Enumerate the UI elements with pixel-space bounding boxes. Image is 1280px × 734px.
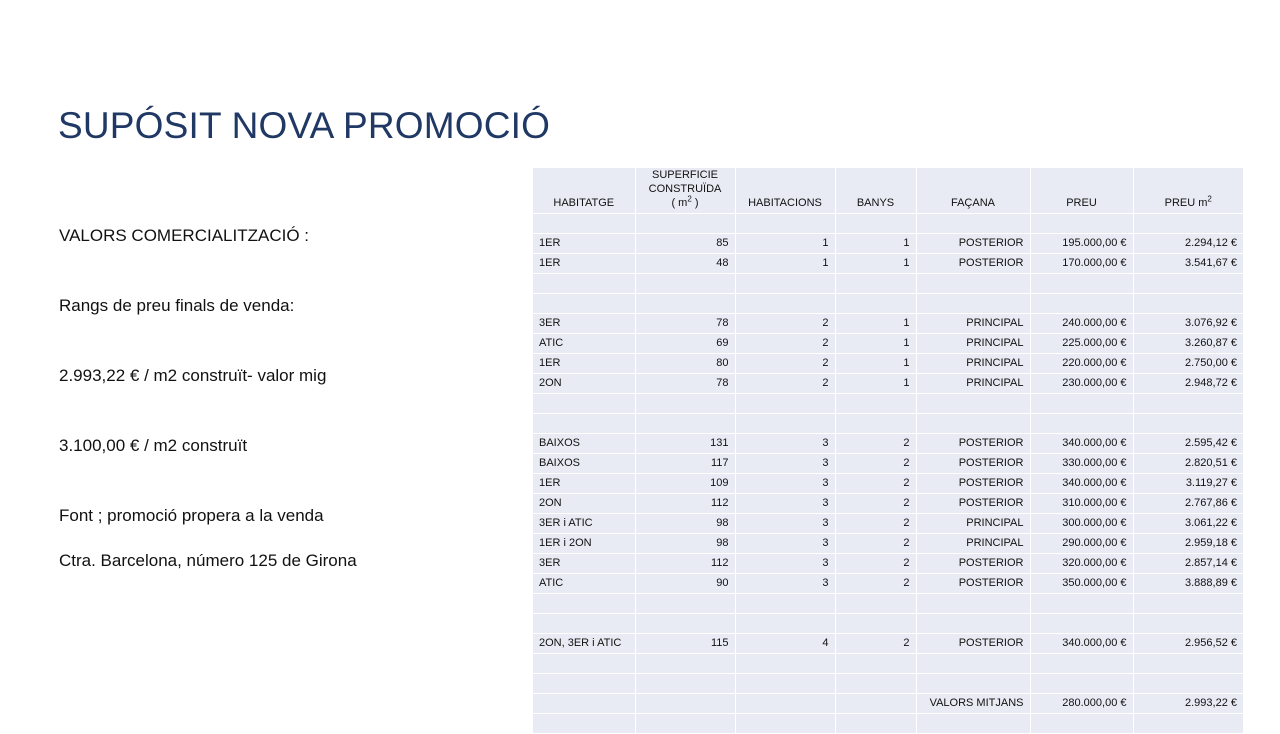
table-cell-preu: 350.000,00 € xyxy=(1030,574,1133,594)
price-table-container: HABITATGE SUPERFICIE CONSTRUÏDA ( m2 ) H… xyxy=(533,168,1243,734)
table-cell-preu: 280.000,00 € xyxy=(1030,694,1133,714)
table-spacer-cell xyxy=(635,654,735,674)
table-spacer-cell xyxy=(916,274,1030,294)
table-spacer-row xyxy=(533,714,1243,734)
table-cell-preum2: 3.888,89 € xyxy=(1133,574,1243,594)
price-table-head: HABITATGE SUPERFICIE CONSTRUÏDA ( m2 ) H… xyxy=(533,168,1243,214)
table-cell-preu: 225.000,00 € xyxy=(1030,334,1133,354)
table-cell-habitatge: 3ER xyxy=(533,554,635,574)
table-cell-habitatge: 1ER xyxy=(533,254,635,274)
table-cell-habitacions: 4 xyxy=(735,634,835,654)
table-cell-superficie: 98 xyxy=(635,514,735,534)
table-spacer-cell xyxy=(835,414,916,434)
body-text-block: VALORS COMERCIALITZACIÓ : Rangs de preu … xyxy=(59,225,509,571)
table-cell-preu: 290.000,00 € xyxy=(1030,534,1133,554)
table-cell-banys: 2 xyxy=(835,634,916,654)
table-cell-preum2: 2.956,52 € xyxy=(1133,634,1243,654)
table-cell-facana: POSTERIOR xyxy=(916,574,1030,594)
table-cell-preum2: 3.061,22 € xyxy=(1133,514,1243,534)
table-cell-banys: 1 xyxy=(835,354,916,374)
table-cell-habitatge: ATIC xyxy=(533,334,635,354)
table-spacer-cell xyxy=(916,594,1030,614)
table-cell-habitacions: 3 xyxy=(735,434,835,454)
table-cell-facana: POSTERIOR xyxy=(916,494,1030,514)
table-spacer-row xyxy=(533,674,1243,694)
table-cell-preum2: 2.820,51 € xyxy=(1133,454,1243,474)
table-cell-preu: 340.000,00 € xyxy=(1030,434,1133,454)
table-cell-habitatge: 2ON xyxy=(533,374,635,394)
table-spacer-cell xyxy=(916,414,1030,434)
table-row: BAIXOS13132POSTERIOR340.000,00 €2.595,42… xyxy=(533,434,1243,454)
table-spacer-cell xyxy=(1133,414,1243,434)
table-cell-habitacions: 3 xyxy=(735,494,835,514)
table-cell-superficie: 85 xyxy=(635,234,735,254)
body-line-adreca: Ctra. Barcelona, número 125 de Girona xyxy=(59,550,509,571)
table-cell-preum2: 3.260,87 € xyxy=(1133,334,1243,354)
col-header-habitatge: HABITATGE xyxy=(533,168,635,214)
table-spacer-cell xyxy=(635,594,735,614)
table-row: 2ON7821PRINCIPAL230.000,00 €2.948,72 € xyxy=(533,374,1243,394)
table-spacer-cell xyxy=(735,714,835,734)
table-cell-preu: 240.000,00 € xyxy=(1030,314,1133,334)
table-spacer-cell xyxy=(835,294,916,314)
table-cell-facana: POSTERIOR xyxy=(916,254,1030,274)
table-row: BAIXOS11732POSTERIOR330.000,00 €2.820,51… xyxy=(533,454,1243,474)
table-cell-preum2: 2.750,00 € xyxy=(1133,354,1243,374)
table-spacer-cell xyxy=(1030,214,1133,234)
table-cell-banys: 1 xyxy=(835,314,916,334)
table-spacer-cell xyxy=(1030,274,1133,294)
table-spacer-cell xyxy=(635,274,735,294)
table-cell-habitatge: 1ER i 2ON xyxy=(533,534,635,554)
table-cell-habitatge: 1ER xyxy=(533,354,635,374)
table-cell-superficie: 109 xyxy=(635,474,735,494)
table-spacer-cell xyxy=(533,654,635,674)
table-spacer-cell xyxy=(735,674,835,694)
table-spacer-cell xyxy=(1030,614,1133,634)
col-header-banys: BANYS xyxy=(835,168,916,214)
table-cell-preu: 170.000,00 € xyxy=(1030,254,1133,274)
table-spacer-cell xyxy=(835,654,916,674)
table-cell-superficie: 115 xyxy=(635,634,735,654)
table-spacer-cell xyxy=(735,414,835,434)
col-header-superficie-line1: SUPERFICIE xyxy=(642,168,729,182)
table-cell-superficie: 90 xyxy=(635,574,735,594)
table-spacer-cell xyxy=(735,654,835,674)
table-cell-superficie: 117 xyxy=(635,454,735,474)
table-cell-facana: PRINCIPAL xyxy=(916,334,1030,354)
table-spacer-cell xyxy=(835,274,916,294)
table-spacer-cell xyxy=(1030,294,1133,314)
table-row: 1ER8511POSTERIOR195.000,00 €2.294,12 € xyxy=(533,234,1243,254)
table-cell-habitatge: BAIXOS xyxy=(533,454,635,474)
table-spacer-cell xyxy=(735,294,835,314)
table-spacer-cell xyxy=(735,214,835,234)
table-spacer-cell xyxy=(533,674,635,694)
table-spacer-cell xyxy=(735,614,835,634)
table-spacer-row xyxy=(533,214,1243,234)
table-cell-superficie: 69 xyxy=(635,334,735,354)
price-table-body: 1ER8511POSTERIOR195.000,00 €2.294,12 €1E… xyxy=(533,214,1243,734)
table-cell-superficie: 80 xyxy=(635,354,735,374)
table-spacer-row xyxy=(533,414,1243,434)
col-header-preu: PREU xyxy=(1030,168,1133,214)
table-cell-habitacions: 3 xyxy=(735,574,835,594)
table-spacer-cell xyxy=(1030,394,1133,414)
table-cell-preu: 310.000,00 € xyxy=(1030,494,1133,514)
table-spacer-cell xyxy=(1133,214,1243,234)
table-cell-superficie: 131 xyxy=(635,434,735,454)
table-spacer-cell xyxy=(533,414,635,434)
table-spacer-cell xyxy=(916,294,1030,314)
col-header-superficie: SUPERFICIE CONSTRUÏDA ( m2 ) xyxy=(635,168,735,214)
table-row: 1ER10932POSTERIOR340.000,00 €3.119,27 € xyxy=(533,474,1243,494)
col-header-preu-m2-label: PREU m2 xyxy=(1140,196,1238,210)
table-spacer-cell xyxy=(1133,594,1243,614)
table-row: 2ON11232POSTERIOR310.000,00 €2.767,86 € xyxy=(533,494,1243,514)
table-cell-habitacions xyxy=(735,694,835,714)
table-spacer-cell xyxy=(533,274,635,294)
table-spacer-cell xyxy=(1133,394,1243,414)
table-cell-preu: 300.000,00 € xyxy=(1030,514,1133,534)
table-spacer-row xyxy=(533,614,1243,634)
table-cell-facana: POSTERIOR xyxy=(916,554,1030,574)
superscript-two: 2 xyxy=(1207,194,1211,203)
table-spacer-cell xyxy=(916,714,1030,734)
table-cell-superficie: 78 xyxy=(635,374,735,394)
table-row: VALORS MITJANS280.000,00 €2.993,22 € xyxy=(533,694,1243,714)
table-cell-habitatge: ATIC xyxy=(533,574,635,594)
table-spacer-cell xyxy=(635,674,735,694)
table-spacer-cell xyxy=(916,674,1030,694)
table-cell-preum2: 3.076,92 € xyxy=(1133,314,1243,334)
table-cell-preu: 320.000,00 € xyxy=(1030,554,1133,574)
table-spacer-row xyxy=(533,594,1243,614)
table-spacer-row xyxy=(533,274,1243,294)
table-cell-preu: 340.000,00 € xyxy=(1030,474,1133,494)
table-spacer-cell xyxy=(1133,614,1243,634)
table-cell-habitatge: 3ER i ATIC xyxy=(533,514,635,534)
table-spacer-cell xyxy=(533,214,635,234)
table-spacer-cell xyxy=(635,414,735,434)
table-cell-banys: 2 xyxy=(835,434,916,454)
table-spacer-cell xyxy=(1030,654,1133,674)
table-spacer-cell xyxy=(635,214,735,234)
table-cell-preu: 330.000,00 € xyxy=(1030,454,1133,474)
table-spacer-cell xyxy=(635,294,735,314)
table-cell-habitatge: 2ON xyxy=(533,494,635,514)
col-header-facana-label: FAÇANA xyxy=(923,196,1024,210)
table-cell-habitatge xyxy=(533,694,635,714)
price-table: HABITATGE SUPERFICIE CONSTRUÏDA ( m2 ) H… xyxy=(533,168,1243,734)
table-cell-banys: 2 xyxy=(835,474,916,494)
table-spacer-cell xyxy=(533,714,635,734)
table-cell-preum2: 3.119,27 € xyxy=(1133,474,1243,494)
table-spacer-cell xyxy=(533,594,635,614)
table-cell-habitacions: 3 xyxy=(735,454,835,474)
table-spacer-cell xyxy=(835,214,916,234)
page-title: SUPÓSIT NOVA PROMOCIÓ xyxy=(58,104,550,148)
table-cell-superficie: 112 xyxy=(635,554,735,574)
table-cell-superficie: 112 xyxy=(635,494,735,514)
table-cell-habitatge: 1ER xyxy=(533,474,635,494)
table-cell-banys: 2 xyxy=(835,454,916,474)
table-spacer-cell xyxy=(735,394,835,414)
table-spacer-cell xyxy=(835,594,916,614)
col-header-banys-label: BANYS xyxy=(842,196,910,210)
table-spacer-cell xyxy=(916,214,1030,234)
table-cell-superficie: 48 xyxy=(635,254,735,274)
table-cell-banys: 2 xyxy=(835,574,916,594)
table-spacer-cell xyxy=(533,294,635,314)
table-cell-facana: PRINCIPAL xyxy=(916,534,1030,554)
table-spacer-row xyxy=(533,294,1243,314)
table-spacer-cell xyxy=(916,614,1030,634)
table-cell-facana: POSTERIOR xyxy=(916,234,1030,254)
table-cell-superficie xyxy=(635,694,735,714)
table-cell-facana: PRINCIPAL xyxy=(916,514,1030,534)
table-cell-banys: 2 xyxy=(835,554,916,574)
table-spacer-cell xyxy=(735,594,835,614)
table-spacer-cell xyxy=(835,614,916,634)
table-spacer-cell xyxy=(1030,714,1133,734)
table-spacer-cell xyxy=(735,274,835,294)
table-cell-facana: POSTERIOR xyxy=(916,454,1030,474)
table-cell-facana: PRINCIPAL xyxy=(916,354,1030,374)
table-spacer-cell xyxy=(835,674,916,694)
table-cell-habitacions: 2 xyxy=(735,314,835,334)
table-cell-banys: 1 xyxy=(835,234,916,254)
table-row: ATIC6921PRINCIPAL225.000,00 €3.260,87 € xyxy=(533,334,1243,354)
col-header-habitatge-label: HABITATGE xyxy=(539,196,629,210)
table-cell-banys: 2 xyxy=(835,534,916,554)
table-spacer-row xyxy=(533,654,1243,674)
table-cell-preu: 340.000,00 € xyxy=(1030,634,1133,654)
table-cell-facana: POSTERIOR xyxy=(916,474,1030,494)
table-cell-habitatge: 1ER xyxy=(533,234,635,254)
col-header-superficie-line3: ( m2 ) xyxy=(642,196,729,210)
table-row: 3ER7821PRINCIPAL240.000,00 €3.076,92 € xyxy=(533,314,1243,334)
table-cell-preum2: 2.959,18 € xyxy=(1133,534,1243,554)
table-cell-preum2: 3.541,67 € xyxy=(1133,254,1243,274)
col-header-superficie-line2: CONSTRUÏDA xyxy=(642,182,729,196)
table-spacer-cell xyxy=(916,654,1030,674)
table-cell-facana: VALORS MITJANS xyxy=(916,694,1030,714)
table-cell-habitacions: 3 xyxy=(735,534,835,554)
table-spacer-cell xyxy=(1133,654,1243,674)
table-cell-superficie: 78 xyxy=(635,314,735,334)
table-spacer-cell xyxy=(635,614,735,634)
table-cell-habitacions: 2 xyxy=(735,374,835,394)
table-cell-habitacions: 1 xyxy=(735,254,835,274)
body-line-preu-m2: 3.100,00 € / m2 construït xyxy=(59,435,509,456)
table-cell-banys xyxy=(835,694,916,714)
body-line-valors-comercialitzacio: VALORS COMERCIALITZACIÓ : xyxy=(59,225,509,246)
table-cell-preu: 195.000,00 € xyxy=(1030,234,1133,254)
table-cell-preum2: 2.857,14 € xyxy=(1133,554,1243,574)
col-header-facana: FAÇANA xyxy=(916,168,1030,214)
table-cell-habitatge: 2ON, 3ER i ATIC xyxy=(533,634,635,654)
table-spacer-cell xyxy=(635,394,735,414)
table-spacer-cell xyxy=(635,714,735,734)
table-cell-preum2: 2.595,42 € xyxy=(1133,434,1243,454)
table-row: 1ER i 2ON9832PRINCIPAL290.000,00 €2.959,… xyxy=(533,534,1243,554)
table-row: 3ER11232POSTERIOR320.000,00 €2.857,14 € xyxy=(533,554,1243,574)
table-row: 2ON, 3ER i ATIC11542POSTERIOR340.000,00 … xyxy=(533,634,1243,654)
table-spacer-cell xyxy=(835,394,916,414)
table-spacer-cell xyxy=(835,714,916,734)
table-cell-preu: 230.000,00 € xyxy=(1030,374,1133,394)
col-header-habitacions: HABITACIONS xyxy=(735,168,835,214)
table-row: 1ER8021PRINCIPAL220.000,00 €2.750,00 € xyxy=(533,354,1243,374)
table-cell-preum2: 2.993,22 € xyxy=(1133,694,1243,714)
body-line-rangs-preu: Rangs de preu finals de venda: xyxy=(59,295,509,316)
table-spacer-cell xyxy=(533,614,635,634)
table-cell-facana: PRINCIPAL xyxy=(916,314,1030,334)
table-cell-banys: 2 xyxy=(835,514,916,534)
table-spacer-cell xyxy=(1133,294,1243,314)
table-row: 1ER4811POSTERIOR170.000,00 €3.541,67 € xyxy=(533,254,1243,274)
table-cell-preum2: 2.767,86 € xyxy=(1133,494,1243,514)
table-cell-banys: 2 xyxy=(835,494,916,514)
table-spacer-cell xyxy=(1133,674,1243,694)
table-spacer-cell xyxy=(916,394,1030,414)
price-table-header-row: HABITATGE SUPERFICIE CONSTRUÏDA ( m2 ) H… xyxy=(533,168,1243,214)
table-cell-habitacions: 3 xyxy=(735,514,835,534)
table-cell-preum2: 2.294,12 € xyxy=(1133,234,1243,254)
table-cell-habitatge: 3ER xyxy=(533,314,635,334)
table-row: 3ER i ATIC9832PRINCIPAL300.000,00 €3.061… xyxy=(533,514,1243,534)
col-header-preu-m2: PREU m2 xyxy=(1133,168,1243,214)
table-cell-facana: POSTERIOR xyxy=(916,434,1030,454)
superscript-two: 2 xyxy=(687,194,691,203)
table-spacer-cell xyxy=(1133,714,1243,734)
table-cell-banys: 1 xyxy=(835,334,916,354)
table-cell-facana: PRINCIPAL xyxy=(916,374,1030,394)
col-header-preu-label: PREU xyxy=(1037,196,1127,210)
table-spacer-cell xyxy=(1030,674,1133,694)
table-spacer-cell xyxy=(1030,594,1133,614)
table-spacer-cell xyxy=(1133,274,1243,294)
table-spacer-cell xyxy=(533,394,635,414)
table-row: ATIC9032POSTERIOR350.000,00 €3.888,89 € xyxy=(533,574,1243,594)
table-cell-habitatge: BAIXOS xyxy=(533,434,635,454)
table-cell-habitacions: 1 xyxy=(735,234,835,254)
table-cell-banys: 1 xyxy=(835,254,916,274)
table-cell-banys: 1 xyxy=(835,374,916,394)
body-line-font: Font ; promoció propera a la venda xyxy=(59,505,509,526)
table-cell-habitacions: 3 xyxy=(735,474,835,494)
table-cell-superficie: 98 xyxy=(635,534,735,554)
table-cell-habitacions: 2 xyxy=(735,354,835,374)
table-cell-preu: 220.000,00 € xyxy=(1030,354,1133,374)
col-header-habitacions-label: HABITACIONS xyxy=(742,196,829,210)
table-cell-preum2: 2.948,72 € xyxy=(1133,374,1243,394)
table-cell-habitacions: 3 xyxy=(735,554,835,574)
table-cell-facana: POSTERIOR xyxy=(916,634,1030,654)
table-spacer-row xyxy=(533,394,1243,414)
table-cell-habitacions: 2 xyxy=(735,334,835,354)
table-spacer-cell xyxy=(1030,414,1133,434)
body-line-valor-mig: 2.993,22 € / m2 construït- valor mig xyxy=(59,365,509,386)
